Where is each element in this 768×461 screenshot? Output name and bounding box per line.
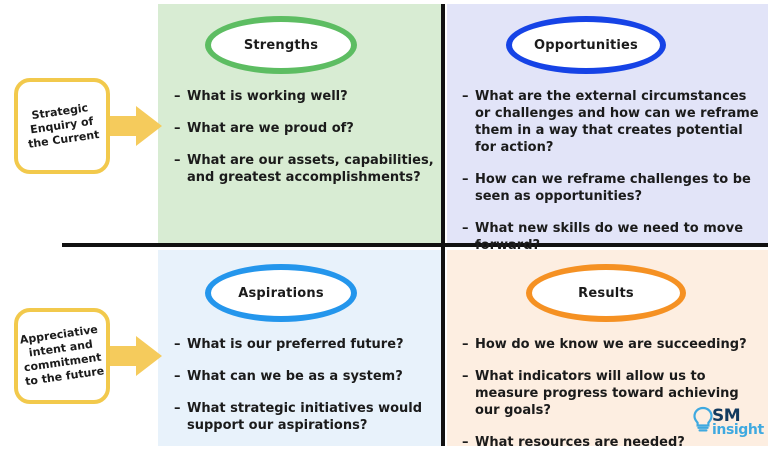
arrow-right-bottom — [110, 332, 162, 380]
quadrant-title-aspirations: Aspirations — [205, 264, 357, 322]
quadrant-title-results-label: Results — [578, 286, 634, 301]
bullet-text: What strategic initiatives would support… — [187, 400, 436, 434]
logo-wordmark: SM insight — [712, 408, 764, 437]
list-item: – How do we know we are succeeding? — [462, 336, 762, 353]
bullet-marker: – — [462, 88, 475, 105]
soar-analysis-diagram: Strategic Enquiry of the Current Appreci… — [0, 0, 768, 461]
logo: SM insight — [692, 402, 762, 442]
bullet-marker: – — [462, 336, 475, 353]
bullet-text: What is our preferred future? — [187, 336, 404, 353]
arrow-right-top — [110, 102, 162, 150]
bullet-text: What are our assets, capabilities, and g… — [187, 152, 436, 186]
bullet-text: What can we be as a system? — [187, 368, 403, 385]
logo-secondary-text: insight — [712, 423, 764, 437]
side-label-strategic-enquiry: Strategic Enquiry of the Current — [14, 78, 110, 174]
bullet-text: How can we reframe challenges to be seen… — [475, 171, 762, 205]
bullet-marker: – — [462, 434, 475, 451]
quadrant-title-opportunities: Opportunities — [506, 16, 666, 74]
divider-vertical — [441, 4, 445, 446]
list-item: – What strategic initiatives would suppo… — [174, 400, 436, 434]
bullet-marker: – — [462, 368, 475, 385]
bullet-text: What resources are needed? — [475, 434, 685, 451]
bullet-marker: – — [462, 220, 475, 237]
bullet-text: What are the external circumstances or c… — [475, 88, 762, 156]
bullet-marker: – — [174, 368, 187, 385]
bullet-list-opportunities: – What are the external circumstances or… — [462, 88, 762, 269]
bullet-text: How do we know we are succeeding? — [475, 336, 747, 353]
quadrant-title-results: Results — [526, 264, 686, 322]
list-item: – What are the external circumstances or… — [462, 88, 762, 156]
bullet-marker: – — [174, 120, 187, 137]
list-item: – What are we proud of? — [174, 120, 436, 137]
side-label-strategic-enquiry-text: Strategic Enquiry of the Current — [24, 100, 101, 152]
bullet-marker: – — [462, 171, 475, 188]
quadrant-title-opportunities-label: Opportunities — [534, 38, 638, 53]
lightbulb-icon — [692, 405, 714, 439]
quadrant-title-aspirations-label: Aspirations — [238, 286, 324, 301]
list-item: – How can we reframe challenges to be se… — [462, 171, 762, 205]
bullet-text: What is working well? — [187, 88, 348, 105]
bullet-text: What are we proud of? — [187, 120, 354, 137]
side-label-appreciative-intent-text: Appreciative intent and commitment to th… — [19, 323, 106, 390]
bullet-list-aspirations: – What is our preferred future? – What c… — [174, 336, 436, 449]
list-item: – What is our preferred future? — [174, 336, 436, 353]
bullet-marker: – — [174, 400, 187, 417]
bullet-text: What new skills do we need to move forwa… — [475, 220, 762, 254]
bullet-marker: – — [174, 88, 187, 105]
quadrant-title-strengths-label: Strengths — [244, 38, 318, 53]
list-item: – What are our assets, capabilities, and… — [174, 152, 436, 186]
bullet-marker: – — [174, 336, 187, 353]
list-item: – What is working well? — [174, 88, 436, 105]
list-item: – What can we be as a system? — [174, 368, 436, 385]
quadrant-title-strengths: Strengths — [205, 16, 357, 74]
bullet-marker: – — [174, 152, 187, 169]
bullet-list-results: – How do we know we are succeeding? – Wh… — [462, 336, 762, 461]
list-item: – What new skills do we need to move for… — [462, 220, 762, 254]
bullet-list-strengths: – What is working well? – What are we pr… — [174, 88, 436, 201]
side-label-appreciative-intent: Appreciative intent and commitment to th… — [14, 308, 110, 404]
